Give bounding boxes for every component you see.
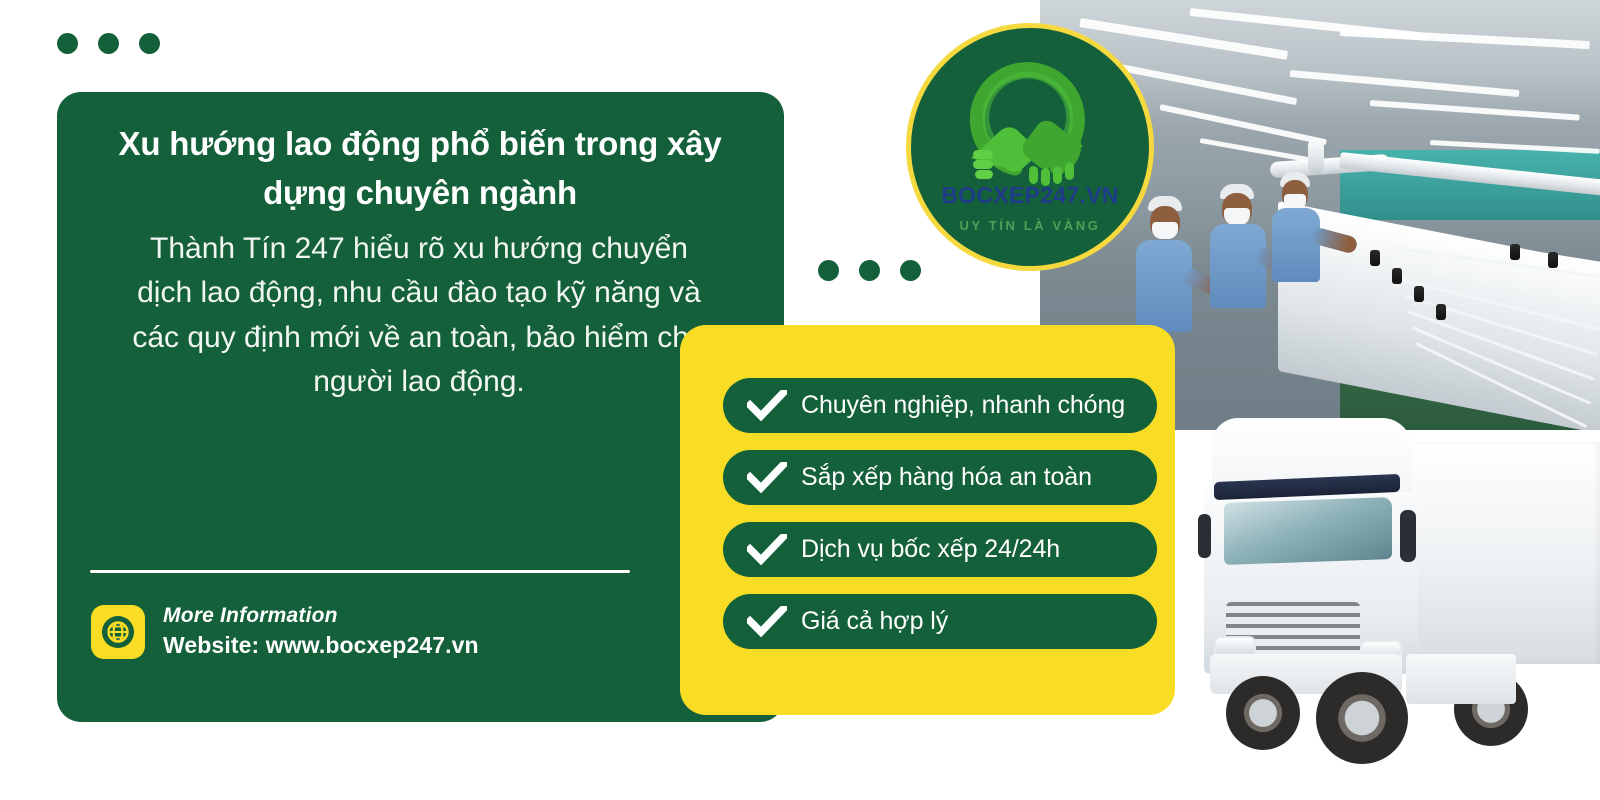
dot — [139, 33, 160, 54]
more-information-label: More Information — [163, 604, 479, 628]
globe-icon — [91, 605, 145, 659]
white-semi-truck-photo — [1168, 404, 1600, 776]
dot — [98, 33, 119, 54]
divider — [90, 570, 630, 573]
truck-wheel — [1226, 676, 1300, 750]
logo-tagline: UY TÍN LÀ VÀNG — [960, 218, 1101, 233]
spool — [1370, 250, 1380, 266]
decorative-dots-middle — [818, 260, 921, 281]
dot — [57, 33, 78, 54]
feature-item[interactable]: Chuyên nghiệp, nhanh chóng — [723, 378, 1157, 433]
check-icon — [747, 462, 787, 494]
website-label[interactable]: Website: www.bocxep247.vn — [163, 632, 479, 659]
handshake-icon — [955, 54, 1105, 186]
company-logo-badge[interactable]: BOCXEP247.VN UY TÍN LÀ VÀNG — [906, 23, 1154, 271]
dot — [818, 260, 839, 281]
feature-item[interactable]: Giá cả hợp lý — [723, 594, 1157, 649]
spool — [1510, 244, 1520, 260]
truck-mirror — [1400, 510, 1416, 562]
check-icon — [747, 390, 787, 422]
check-icon — [747, 534, 787, 566]
truck-trailer — [1412, 442, 1600, 664]
page-title: Xu hướng lao động phổ biến trong xây dựn… — [105, 120, 735, 218]
spool — [1436, 304, 1446, 320]
spool — [1392, 268, 1402, 284]
truck-chassis-fairing — [1406, 654, 1516, 704]
air-duct-riser — [1308, 138, 1324, 174]
spool — [1548, 252, 1558, 268]
feature-label: Sắp xếp hàng hóa an toàn — [801, 463, 1092, 492]
logo-wordmark: BOCXEP247.VN — [941, 182, 1118, 209]
dot — [859, 260, 880, 281]
feature-list: Chuyên nghiệp, nhanh chóng Sắp xếp hàng … — [723, 378, 1157, 649]
more-information-block: More Information Website: www.bocxep247.… — [91, 604, 479, 659]
feature-label: Dịch vụ bốc xếp 24/24h — [801, 535, 1060, 564]
feature-label: Chuyên nghiệp, nhanh chóng — [801, 391, 1125, 420]
poster-canvas: Xu hướng lao động phổ biến trong xây dựn… — [0, 0, 1600, 800]
feature-item[interactable]: Dịch vụ bốc xếp 24/24h — [723, 522, 1157, 577]
feature-item[interactable]: Sắp xếp hàng hóa an toàn — [723, 450, 1157, 505]
truck-wheel — [1316, 672, 1408, 764]
truck-windshield — [1224, 497, 1392, 565]
feature-label: Giá cả hợp lý — [801, 607, 948, 636]
spool — [1414, 286, 1424, 302]
truck-mirror — [1198, 514, 1211, 558]
decorative-dots-top-left — [57, 33, 160, 54]
info-text-group: More Information Website: www.bocxep247.… — [163, 604, 479, 659]
dot — [900, 260, 921, 281]
main-content-card: Xu hướng lao động phổ biến trong xây dựn… — [57, 92, 784, 722]
body-paragraph: Thành Tín 247 hiểu rõ xu hướng chuyển dị… — [119, 227, 719, 405]
check-icon — [747, 606, 787, 638]
